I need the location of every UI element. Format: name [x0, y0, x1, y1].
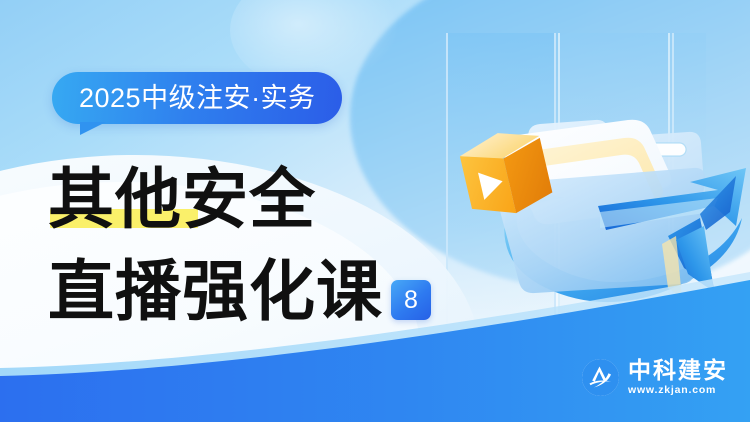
headline-line-2-text: 直播强化课 — [48, 258, 383, 324]
headline-block: 其他安全 直播强化课 8 — [48, 152, 468, 324]
speech-bubble-tail-icon — [80, 122, 106, 135]
brand-logo: 中科建安 www.zkjan.com — [582, 359, 728, 396]
zkjan-monogram-icon — [582, 359, 619, 396]
brand-url: www.zkjan.com — [628, 385, 728, 396]
category-badge: 2025中级注安·实务 — [52, 72, 342, 124]
promo-banner: 2025中级注安·实务 其他安全 直播强化课 8 中科建安 www.zkjan.… — [0, 0, 750, 422]
category-badge-pill: 2025中级注安·实务 — [52, 72, 342, 124]
headline-line-1-text: 其他安全 — [48, 166, 316, 232]
brand-name: 中科建安 — [628, 359, 728, 382]
category-badge-label: 2025中级注安·实务 — [79, 85, 316, 112]
brand-logo-words: 中科建安 www.zkjan.com — [628, 359, 728, 396]
headline-line-1: 其他安全 — [48, 152, 468, 232]
headline-line-2: 直播强化课 8 — [48, 244, 468, 324]
episode-number-badge: 8 — [391, 280, 431, 320]
